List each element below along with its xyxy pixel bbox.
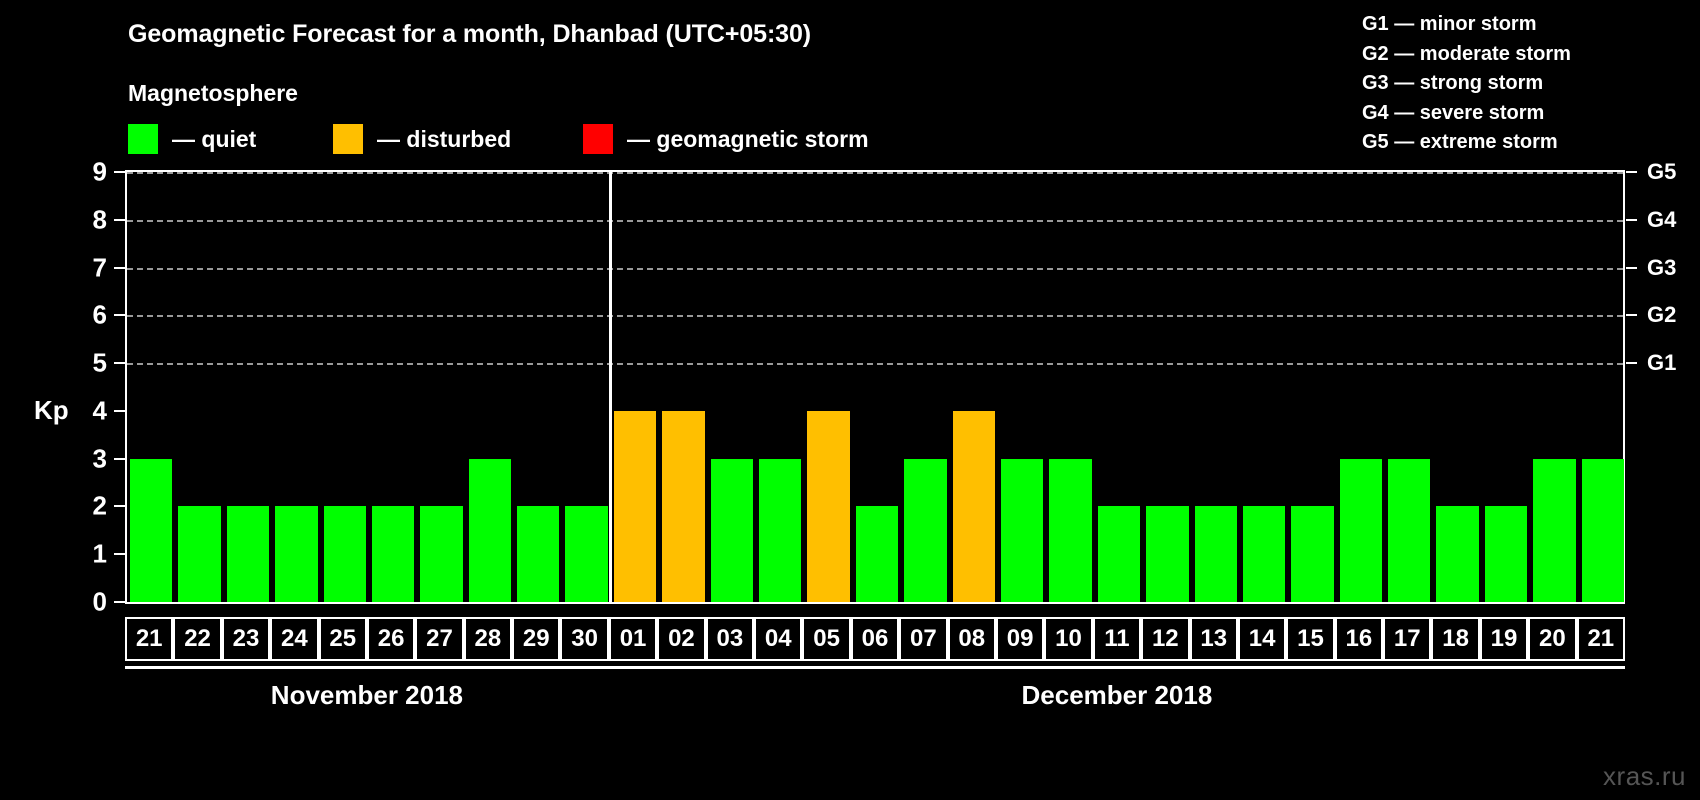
date-label-21: 12 (1141, 617, 1189, 661)
y-tick-mark-9 (114, 171, 125, 173)
date-label-1: 22 (173, 617, 221, 661)
g-axis-tick-G4 (1626, 219, 1637, 221)
date-label-26: 17 (1383, 617, 1431, 661)
y-tick-label-5: 5 (67, 348, 107, 379)
bar-09 (1001, 459, 1043, 602)
g-axis-tick-G1 (1626, 362, 1637, 364)
bar-12 (1146, 506, 1188, 602)
y-tick-label-0: 0 (67, 587, 107, 618)
y-tick-label-2: 2 (67, 491, 107, 522)
axis-bottom-rule (125, 666, 1625, 669)
legend-swatch-geomagnetic-storm (583, 124, 613, 154)
bar-11 (1098, 506, 1140, 602)
y-tick-mark-2 (114, 505, 125, 507)
date-label-22: 13 (1190, 617, 1238, 661)
date-label-6: 27 (415, 617, 463, 661)
legend-label-geomagnetic-storm: — geomagnetic storm (627, 126, 869, 153)
g-axis-label-G2: G2 (1647, 302, 1676, 328)
g-legend-row-3: G3 — strong storm (1362, 69, 1682, 99)
bar-03 (711, 459, 753, 602)
month-caption-1: December 2018 (967, 680, 1267, 711)
legend-entry-geomagnetic-storm: — geomagnetic storm (583, 122, 869, 156)
g-legend-row-4: G4 — severe storm (1362, 99, 1682, 129)
y-tick-mark-5 (114, 362, 125, 364)
bar-06 (856, 506, 898, 602)
date-label-7: 28 (464, 617, 512, 661)
bar-01 (614, 411, 656, 602)
date-label-5: 26 (367, 617, 415, 661)
date-label-29: 20 (1528, 617, 1576, 661)
date-label-13: 04 (754, 617, 802, 661)
g-axis-label-G1: G1 (1647, 350, 1676, 376)
bar-07 (904, 459, 946, 602)
g-axis-tick-G5 (1626, 171, 1637, 173)
date-label-15: 06 (851, 617, 899, 661)
y-tick-label-8: 8 (67, 204, 107, 235)
date-label-11: 02 (657, 617, 705, 661)
bars-layer (127, 172, 1623, 602)
plot-area (125, 170, 1625, 604)
y-tick-mark-8 (114, 219, 125, 221)
date-label-25: 16 (1335, 617, 1383, 661)
bar-20 (1533, 459, 1575, 602)
legend-entry-disturbed: — disturbed (333, 122, 511, 156)
bar-17 (1388, 459, 1430, 602)
y-tick-label-9: 9 (67, 157, 107, 188)
date-label-19: 10 (1044, 617, 1092, 661)
y-tick-mark-7 (114, 267, 125, 269)
date-label-10: 01 (609, 617, 657, 661)
watermark: xras.ru (1603, 761, 1686, 792)
g-axis-tick-G3 (1626, 267, 1637, 269)
bar-26 (372, 506, 414, 602)
bar-30 (565, 506, 607, 602)
legend-entry-quiet: — quiet (128, 122, 256, 156)
bar-24 (275, 506, 317, 602)
date-label-28: 19 (1480, 617, 1528, 661)
bar-02 (662, 411, 704, 602)
bar-25 (324, 506, 366, 602)
date-label-8: 29 (512, 617, 560, 661)
g-legend-row-2: G2 — moderate storm (1362, 40, 1682, 70)
bar-27 (420, 506, 462, 602)
bar-04 (759, 459, 801, 602)
g-legend-row-5: G5 — extreme storm (1362, 128, 1682, 158)
date-label-23: 14 (1238, 617, 1286, 661)
bar-08 (953, 411, 995, 602)
bar-22 (178, 506, 220, 602)
date-label-16: 07 (899, 617, 947, 661)
bar-19 (1485, 506, 1527, 602)
month-caption-0: November 2018 (217, 680, 517, 711)
page-title: Geomagnetic Forecast for a month, Dhanba… (128, 20, 811, 49)
date-label-18: 09 (996, 617, 1044, 661)
date-label-27: 18 (1431, 617, 1479, 661)
g-axis-label-G5: G5 (1647, 159, 1676, 185)
y-tick-mark-6 (114, 314, 125, 316)
bar-05 (807, 411, 849, 602)
bar-28 (469, 459, 511, 602)
y-tick-label-1: 1 (67, 539, 107, 570)
legend-swatch-quiet (128, 124, 158, 154)
bar-14 (1243, 506, 1285, 602)
y-tick-mark-3 (114, 458, 125, 460)
month-divider-line (609, 172, 612, 602)
g-axis-tick-G2 (1626, 314, 1637, 316)
legend-label-disturbed: — disturbed (377, 126, 511, 153)
bar-13 (1195, 506, 1237, 602)
bar-29 (517, 506, 559, 602)
bar-23 (227, 506, 269, 602)
y-axis-title: Kp (34, 395, 69, 426)
date-label-9: 30 (560, 617, 608, 661)
date-label-2: 23 (222, 617, 270, 661)
date-label-12: 03 (706, 617, 754, 661)
bar-18 (1436, 506, 1478, 602)
bar-16 (1340, 459, 1382, 602)
y-tick-mark-1 (114, 553, 125, 555)
y-tick-label-7: 7 (67, 252, 107, 283)
date-label-30: 21 (1577, 617, 1625, 661)
date-label-20: 11 (1093, 617, 1141, 661)
magnetosphere-label: Magnetosphere (128, 80, 298, 107)
legend-label-quiet: — quiet (172, 126, 256, 153)
bar-15 (1291, 506, 1333, 602)
y-tick-label-3: 3 (67, 443, 107, 474)
date-label-4: 25 (319, 617, 367, 661)
bar-21 (1582, 459, 1624, 602)
legend-swatch-disturbed (333, 124, 363, 154)
date-label-0: 21 (125, 617, 173, 661)
y-tick-label-6: 6 (67, 300, 107, 331)
y-tick-mark-0 (114, 601, 125, 603)
g-axis-label-G4: G4 (1647, 207, 1676, 233)
date-label-3: 24 (270, 617, 318, 661)
date-label-14: 05 (802, 617, 850, 661)
date-label-24: 15 (1286, 617, 1334, 661)
g-scale-legend: G1 — minor stormG2 — moderate stormG3 — … (1362, 10, 1682, 158)
bar-21 (130, 459, 172, 602)
bar-10 (1049, 459, 1091, 602)
g-legend-row-1: G1 — minor storm (1362, 10, 1682, 40)
y-tick-label-4: 4 (67, 395, 107, 426)
g-axis-label-G3: G3 (1647, 255, 1676, 281)
y-tick-mark-4 (114, 410, 125, 412)
date-label-17: 08 (948, 617, 996, 661)
